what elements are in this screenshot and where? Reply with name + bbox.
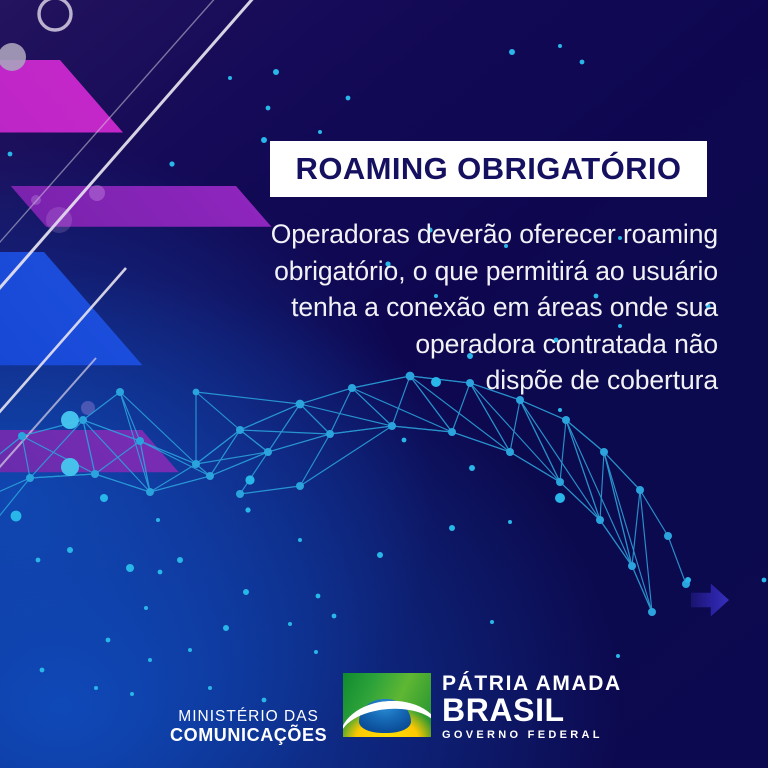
description-line-2: obrigatório, o que permitirá ao usuário [218,253,718,290]
ministry-line-2: COMUNICAÇÕES [170,725,327,745]
ministry-line-1: MINISTÉRIO DAS [170,708,327,725]
ministry-wordmark: MINISTÉRIO DAS COMUNICAÇÕES [170,708,327,746]
description-text: Operadoras deverão oferecer roaming obri… [218,216,718,399]
page-title: ROAMING OBRIGATÓRIO [296,151,682,187]
gov-line-3: GOVERNO FEDERAL [442,729,622,741]
brazil-flag-icon [343,673,431,737]
poster-canvas: ROAMING OBRIGATÓRIO Operadoras deverão o… [0,0,768,768]
description-line-5: dispõe de cobertura [218,362,718,399]
gov-line-2: BRASIL [442,694,622,726]
government-logo: PÁTRIA AMADA BRASIL GOVERNO FEDERAL [343,673,622,741]
title-banner: ROAMING OBRIGATÓRIO [270,141,707,197]
description-line-1: Operadoras deverão oferecer roaming [218,216,718,253]
description-line-4: operadora contratada não [218,326,718,363]
description-line-3: tenha a conexão em áreas onde sua [218,289,718,326]
government-wordmark: PÁTRIA AMADA BRASIL GOVERNO FEDERAL [442,673,622,741]
